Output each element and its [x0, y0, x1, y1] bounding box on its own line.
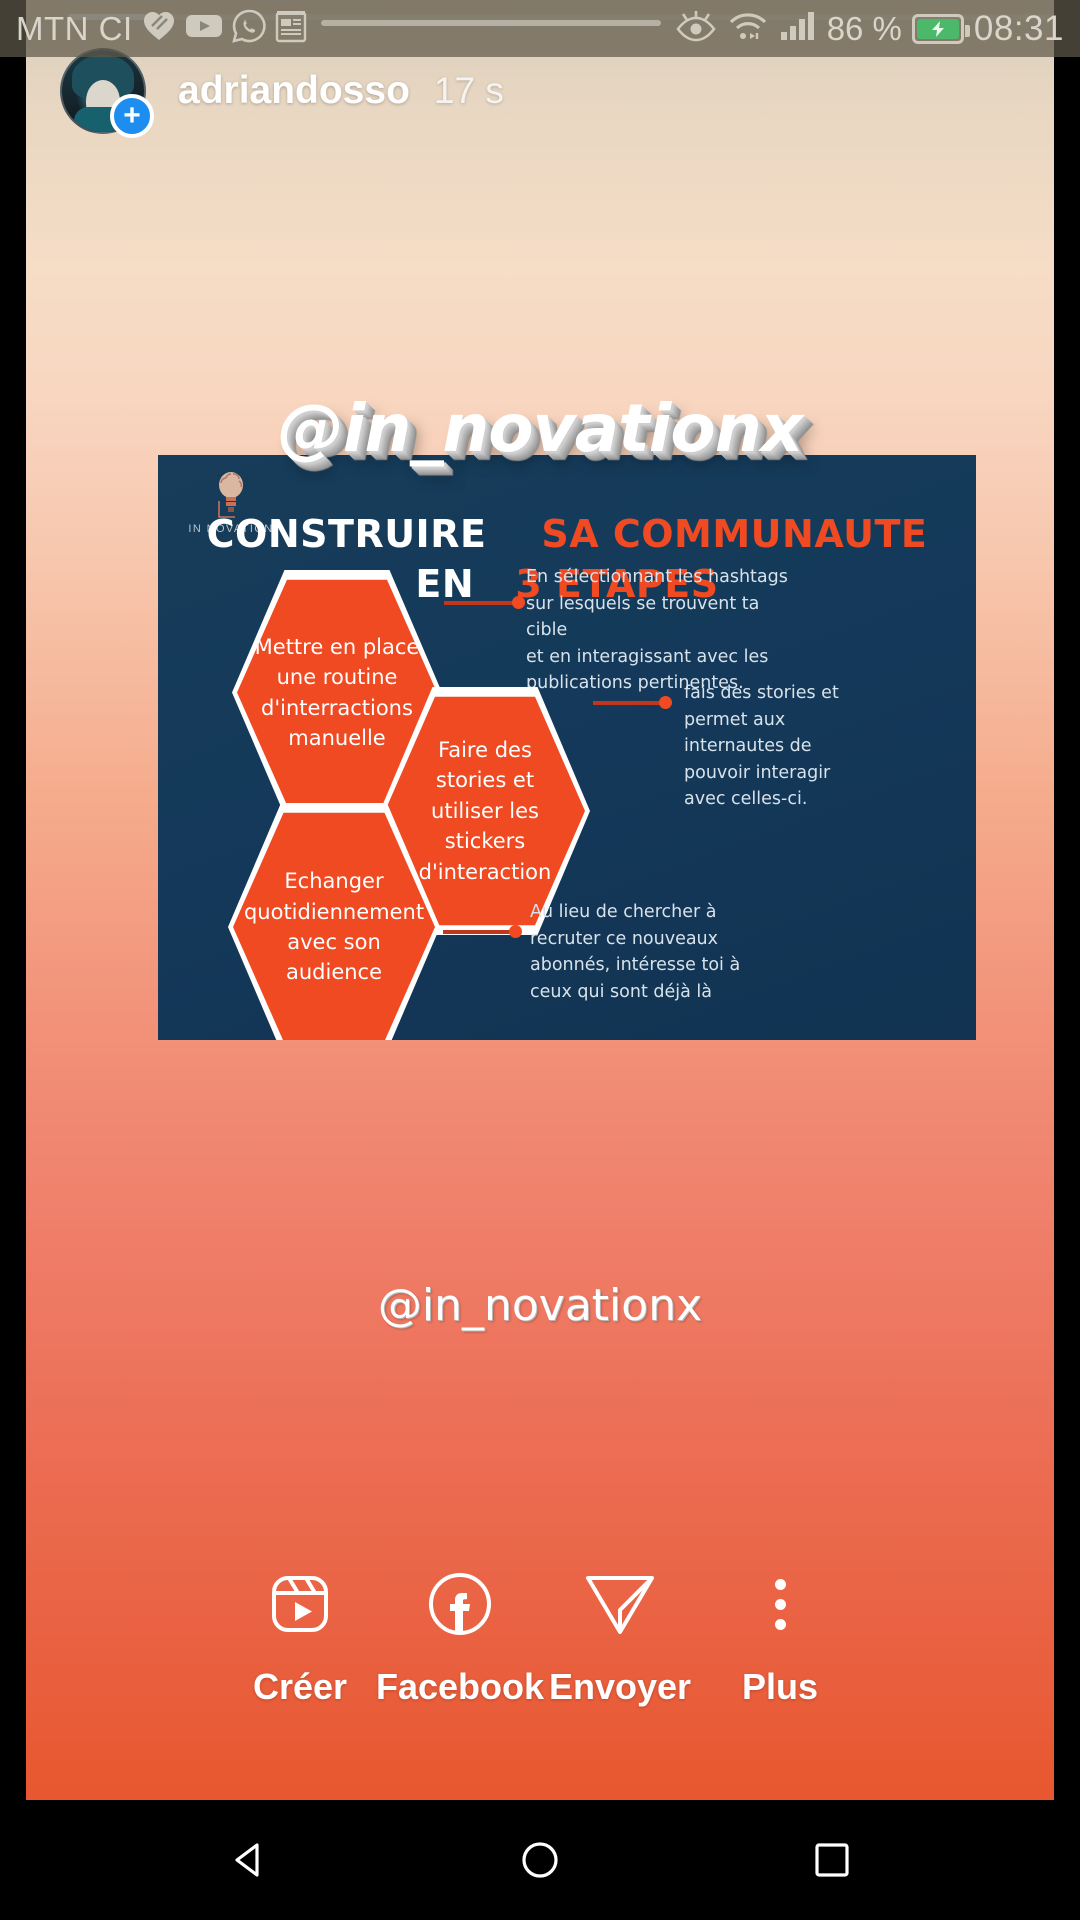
story-action-bar: Créer Facebook Envoyer — [26, 1568, 1054, 1708]
android-nav-bar — [0, 1800, 1080, 1920]
hexagon-step-1-label: Mettre en place une routine d'interracti… — [241, 632, 434, 754]
leader-line-2 — [593, 701, 665, 705]
clock-label: 08:31 — [974, 9, 1064, 49]
story-timestamp: 17 s — [434, 70, 504, 112]
carrier-label: MTN CI — [16, 10, 133, 48]
leader-dot-2 — [659, 696, 672, 709]
phone-screen: + adriandosso 17 s @in_novationx — [0, 0, 1080, 1920]
action-envoyer[interactable]: Envoyer — [540, 1568, 700, 1708]
battery-percent-label: 86 % — [827, 10, 902, 48]
right-rail — [1054, 0, 1080, 1800]
title-construire: CONSTRUIRE — [207, 512, 487, 556]
story-header: + adriandosso 17 s — [26, 48, 1054, 134]
heart-app-icon — [142, 10, 176, 47]
title-en: EN — [415, 562, 474, 606]
facebook-icon[interactable] — [427, 1568, 493, 1640]
story-caption-text: @in_novationx — [378, 1280, 702, 1331]
avatar[interactable]: + — [60, 48, 146, 134]
title-sa-communaute: SA COMMUNAUTE — [541, 512, 927, 556]
leader-line-1 — [444, 601, 518, 605]
story-caption: @in_novationx — [26, 1280, 1054, 1331]
add-to-story-plus-icon[interactable]: + — [110, 94, 154, 138]
action-facebook-label: Facebook — [376, 1666, 544, 1708]
send-paper-plane-icon[interactable] — [584, 1568, 656, 1640]
youtube-icon — [185, 12, 223, 45]
left-rail — [0, 0, 26, 1800]
note-step-2: fais des stories et permet aux internaut… — [684, 680, 914, 813]
signal-icon — [779, 10, 817, 47]
whatsapp-icon — [232, 9, 266, 48]
home-circle-icon[interactable] — [519, 1839, 561, 1881]
action-plus[interactable]: Plus — [700, 1568, 860, 1708]
action-creer[interactable]: Créer — [220, 1568, 380, 1708]
hexagon-step-2-label: Faire des stories et utiliser les sticke… — [405, 735, 566, 887]
action-facebook[interactable]: Facebook — [380, 1568, 540, 1708]
leader-line-3 — [443, 930, 515, 934]
story-viewer[interactable]: + adriandosso 17 s @in_novationx — [26, 0, 1054, 1800]
infographic-image: IN NOVATION CONSTRUIRE SA COMMUNAUTE EN … — [158, 455, 976, 1040]
action-envoyer-label: Envoyer — [549, 1666, 691, 1708]
leader-dot-3 — [509, 925, 522, 938]
leader-dot-1 — [512, 596, 525, 609]
more-vertical-icon[interactable] — [775, 1568, 786, 1640]
recents-square-icon[interactable] — [811, 1839, 853, 1881]
wifi-icon — [727, 9, 769, 48]
action-creer-label: Créer — [253, 1666, 347, 1708]
action-plus-label: Plus — [742, 1666, 818, 1708]
status-bar-spacer — [321, 20, 661, 26]
reels-create-icon[interactable] — [268, 1568, 332, 1640]
story-username[interactable]: adriandosso — [178, 69, 410, 113]
note-step-3: Au lieu de chercher à recruter ce nouvea… — [530, 899, 778, 1005]
note-step-1: En sélectionnant les hashtags sur lesque… — [526, 564, 794, 697]
battery-charging-icon — [912, 14, 964, 44]
status-bar: MTN CI 86 % — [0, 0, 1080, 57]
eye-comfort-icon — [675, 9, 717, 48]
hexagon-step-3-label: Echanger quotidiennement avec son audien… — [230, 866, 438, 988]
back-triangle-icon[interactable] — [227, 1839, 269, 1881]
news-icon — [275, 9, 307, 48]
